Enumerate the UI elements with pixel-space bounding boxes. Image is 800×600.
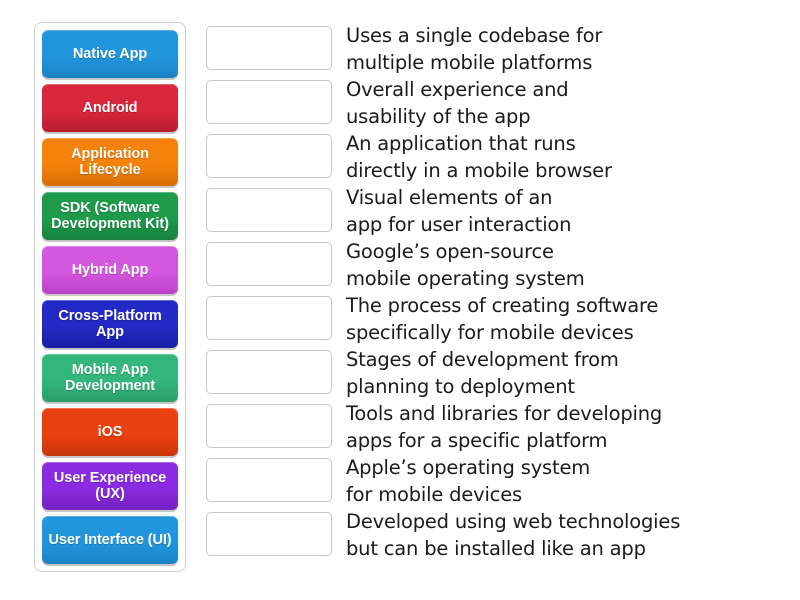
match-pair-row: Overall experience and usability of the … (206, 76, 790, 130)
answer-drop-box[interactable] (206, 188, 332, 232)
answer-drop-box[interactable] (206, 404, 332, 448)
definition-pairs-panel: Uses a single codebase for multiple mobi… (206, 22, 800, 562)
definition-text: Uses a single codebase for multiple mobi… (346, 22, 602, 76)
term-tile[interactable]: iOS (42, 408, 178, 456)
term-tile-label: Hybrid App (72, 262, 149, 278)
definition-text: Stages of development from planning to d… (346, 346, 619, 400)
term-tile[interactable]: SDK (Software Development Kit) (42, 192, 178, 240)
definition-text: Visual elements of an app for user inter… (346, 184, 571, 238)
term-tile-label: Mobile App Development (47, 362, 173, 394)
match-pair-row: Stages of development from planning to d… (206, 346, 790, 400)
match-pair-row: Tools and libraries for developing apps … (206, 400, 790, 454)
answer-drop-box[interactable] (206, 134, 332, 178)
definition-text: Overall experience and usability of the … (346, 76, 568, 130)
match-pair-row: Google’s open-source mobile operating sy… (206, 238, 790, 292)
definition-text: Apple’s operating system for mobile devi… (346, 454, 590, 508)
answer-drop-box[interactable] (206, 512, 332, 556)
match-pair-row: The process of creating software specifi… (206, 292, 790, 346)
answer-drop-box[interactable] (206, 26, 332, 70)
answer-drop-box[interactable] (206, 350, 332, 394)
term-tile-label: Application Lifecycle (47, 146, 173, 178)
definition-text: An application that runs directly in a m… (346, 130, 612, 184)
term-tile[interactable]: Android (42, 84, 178, 132)
term-tiles-panel: Native AppAndroidApplication LifecycleSD… (34, 22, 186, 572)
term-tile[interactable]: Mobile App Development (42, 354, 178, 402)
term-tile-label: Android (83, 100, 138, 116)
match-up-activity: Native AppAndroidApplication LifecycleSD… (0, 0, 800, 600)
term-tile-label: SDK (Software Development Kit) (47, 200, 173, 232)
match-pair-row: Apple’s operating system for mobile devi… (206, 454, 790, 508)
term-tile-label: iOS (98, 424, 123, 440)
term-tile-label: User Interface (UI) (49, 532, 172, 548)
answer-drop-box[interactable] (206, 242, 332, 286)
match-pair-row: Developed using web technologies but can… (206, 508, 790, 562)
term-tile[interactable]: Hybrid App (42, 246, 178, 294)
term-tile[interactable]: User Interface (UI) (42, 516, 178, 564)
definition-text: Tools and libraries for developing apps … (346, 400, 662, 454)
definition-text: The process of creating software specifi… (346, 292, 658, 346)
term-tile-label: Cross-Platform App (47, 308, 173, 340)
definition-text: Developed using web technologies but can… (346, 508, 680, 562)
term-tile[interactable]: Cross-Platform App (42, 300, 178, 348)
definition-text: Google’s open-source mobile operating sy… (346, 238, 585, 292)
term-tile[interactable]: User Experience (UX) (42, 462, 178, 510)
match-pair-row: An application that runs directly in a m… (206, 130, 790, 184)
match-pair-row: Visual elements of an app for user inter… (206, 184, 790, 238)
term-tile[interactable]: Application Lifecycle (42, 138, 178, 186)
term-tile[interactable]: Native App (42, 30, 178, 78)
answer-drop-box[interactable] (206, 296, 332, 340)
match-pair-row: Uses a single codebase for multiple mobi… (206, 22, 790, 76)
answer-drop-box[interactable] (206, 80, 332, 124)
term-tile-label: Native App (73, 46, 147, 62)
answer-drop-box[interactable] (206, 458, 332, 502)
term-tile-label: User Experience (UX) (47, 470, 173, 502)
